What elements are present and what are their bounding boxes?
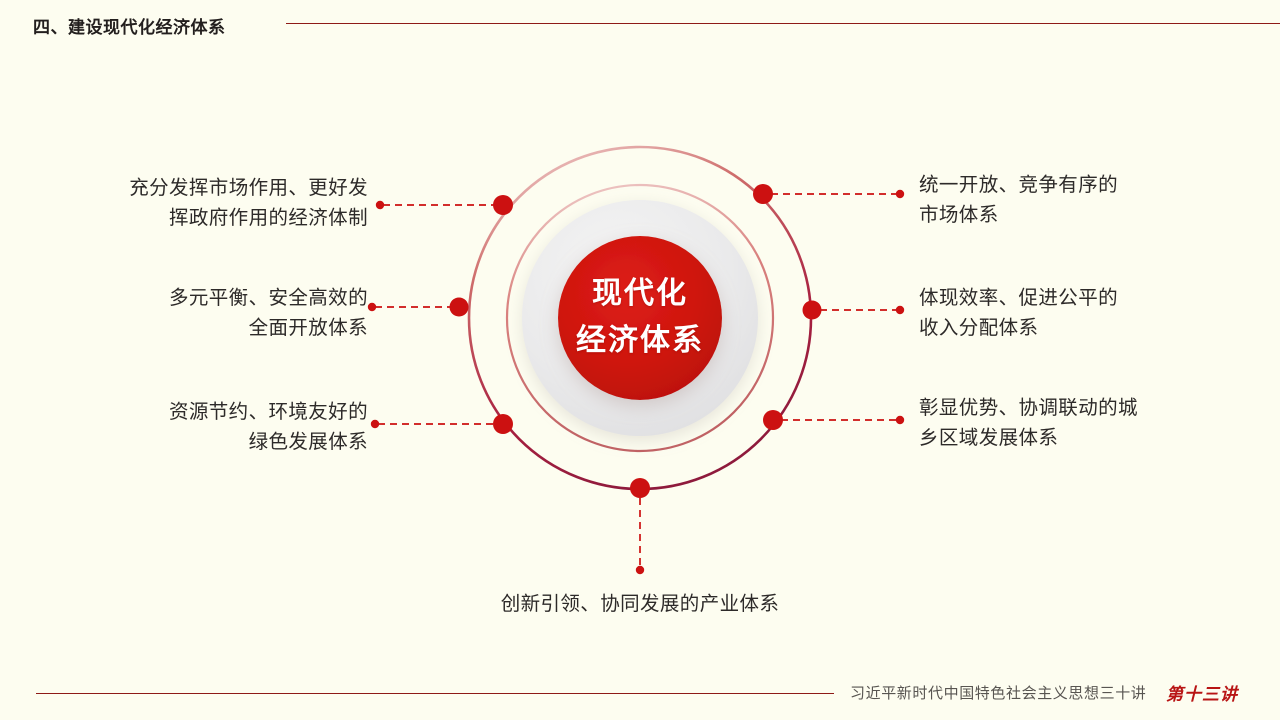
core-circle [558, 236, 722, 400]
node-label-market-order-line1: 统一开放、竞争有序的 [919, 170, 1118, 200]
node-label-open-system[interactable]: 多元平衡、安全高效的 全面开放体系 [169, 283, 368, 343]
node-label-income-dist[interactable]: 体现效率、促进公平的 收入分配体系 [919, 283, 1118, 343]
node-label-market-govt-line2: 挥政府作用的经济体制 [129, 203, 368, 233]
node-label-green-dev-line1: 资源节约、环境友好的 [169, 397, 368, 427]
node-dot-green-dev [493, 414, 513, 434]
connector-open-system [368, 298, 469, 317]
node-label-market-order[interactable]: 统一开放、竞争有序的 市场体系 [919, 170, 1118, 230]
node-label-income-dist-line2: 收入分配体系 [919, 313, 1118, 343]
node-label-market-govt-line1: 充分发挥市场作用、更好发 [129, 173, 368, 203]
node-label-green-dev-line2: 绿色发展体系 [169, 427, 368, 457]
node-dot-market-order [753, 184, 773, 204]
node-label-market-order-line2: 市场体系 [919, 200, 1118, 230]
node-label-market-govt[interactable]: 充分发挥市场作用、更好发 挥政府作用的经济体制 [129, 173, 368, 233]
slide-footer: 习近平新时代中国特色社会主义思想三十讲 第十三讲 [0, 680, 1280, 720]
node-dot-open-system [450, 298, 469, 317]
connector-industry [630, 478, 650, 574]
node-label-industry-line1: 创新引领、协同发展的产业体系 [440, 589, 840, 619]
node-label-urban-rural-line1: 彰显优势、协调联动的城 [919, 393, 1138, 423]
node-dot-industry [630, 478, 650, 498]
connector-urban-rural [763, 410, 904, 430]
footer-lecture-label: 第十三讲 [1166, 680, 1238, 705]
footer-divider [36, 693, 834, 694]
node-dot-income-dist [803, 301, 822, 320]
footer-course-title: 习近平新时代中国特色社会主义思想三十讲 [850, 682, 1146, 703]
node-label-green-dev[interactable]: 资源节约、环境友好的 绿色发展体系 [169, 397, 368, 457]
node-dot-urban-rural [763, 410, 783, 430]
node-label-urban-rural-line2: 乡区域发展体系 [919, 423, 1138, 453]
modern-economic-system-diagram: 现代化 经济体系 充分发挥市场作用、更好发 挥政府作用的经济体制 多元平衡、安全… [0, 0, 1280, 720]
connector-income-dist [803, 301, 905, 320]
node-dot-market-govt [493, 195, 513, 215]
connector-green-dev [371, 414, 513, 434]
connector-market-order [753, 184, 904, 204]
connector-market-govt [376, 195, 513, 215]
node-label-urban-rural[interactable]: 彰显优势、协调联动的城 乡区域发展体系 [919, 393, 1138, 453]
node-label-income-dist-line1: 体现效率、促进公平的 [919, 283, 1118, 313]
node-label-open-system-line2: 全面开放体系 [169, 313, 368, 343]
slide-canvas: 四、建设现代化经济体系 [0, 0, 1280, 720]
node-label-open-system-line1: 多元平衡、安全高效的 [169, 283, 368, 313]
node-label-industry[interactable]: 创新引领、协同发展的产业体系 [440, 589, 840, 619]
